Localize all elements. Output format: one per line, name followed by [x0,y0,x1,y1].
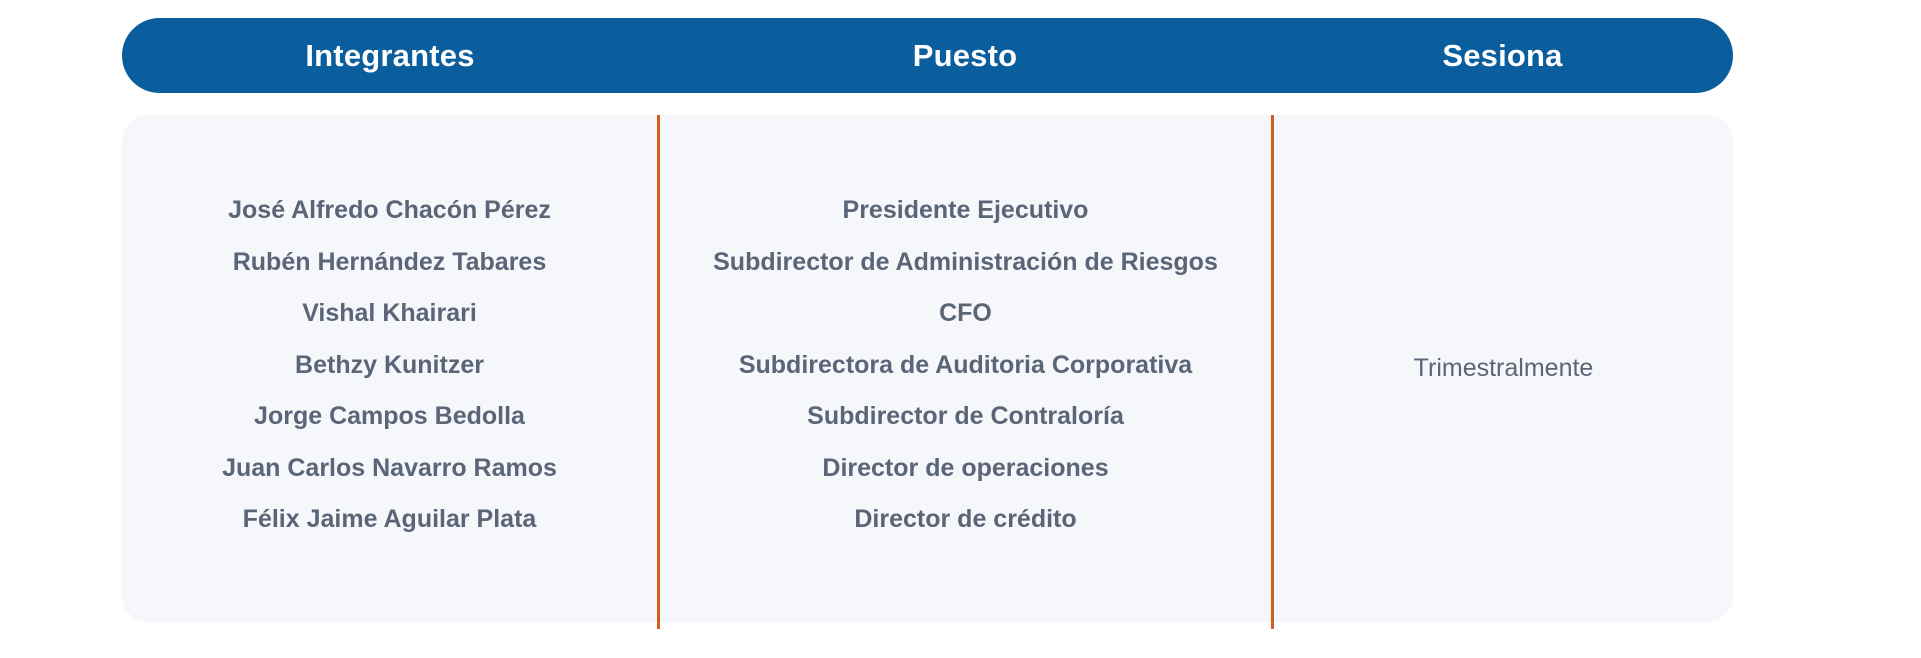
table-row: Jorge Campos Bedolla [122,391,657,443]
sesiona-value: Trimestralmente [1414,354,1594,383]
column-header-sesiona: Sesiona [1272,38,1733,74]
table-row: Director de operaciones [660,443,1271,495]
column-header-puesto: Puesto [658,38,1272,74]
table-header-bar: Integrantes Puesto Sesiona [122,18,1733,93]
table-row: CFO [660,288,1271,340]
column-sesiona: Trimestralmente [1274,115,1733,622]
members-table: Integrantes Puesto Sesiona José Alfredo … [0,0,1921,658]
table-row: Juan Carlos Navarro Ramos [122,443,657,495]
table-row: Rubén Hernández Tabares [122,237,657,289]
column-integrantes: José Alfredo Chacón Pérez Rubén Hernánde… [122,115,657,622]
table-row: Félix Jaime Aguilar Plata [122,494,657,546]
table-row: Subdirector de Administración de Riesgos [660,237,1271,289]
table-row: Vishal Khairari [122,288,657,340]
table-row: José Alfredo Chacón Pérez [122,185,657,237]
column-header-integrantes: Integrantes [122,38,658,74]
table-row: Director de crédito [660,494,1271,546]
table-row: Subdirector de Contraloría [660,391,1271,443]
table-row: Bethzy Kunitzer [122,340,657,392]
table-row: Presidente Ejecutivo [660,185,1271,237]
table-row: Subdirectora de Auditoria Corporativa [660,340,1271,392]
column-puesto: Presidente Ejecutivo Subdirector de Admi… [660,115,1271,622]
